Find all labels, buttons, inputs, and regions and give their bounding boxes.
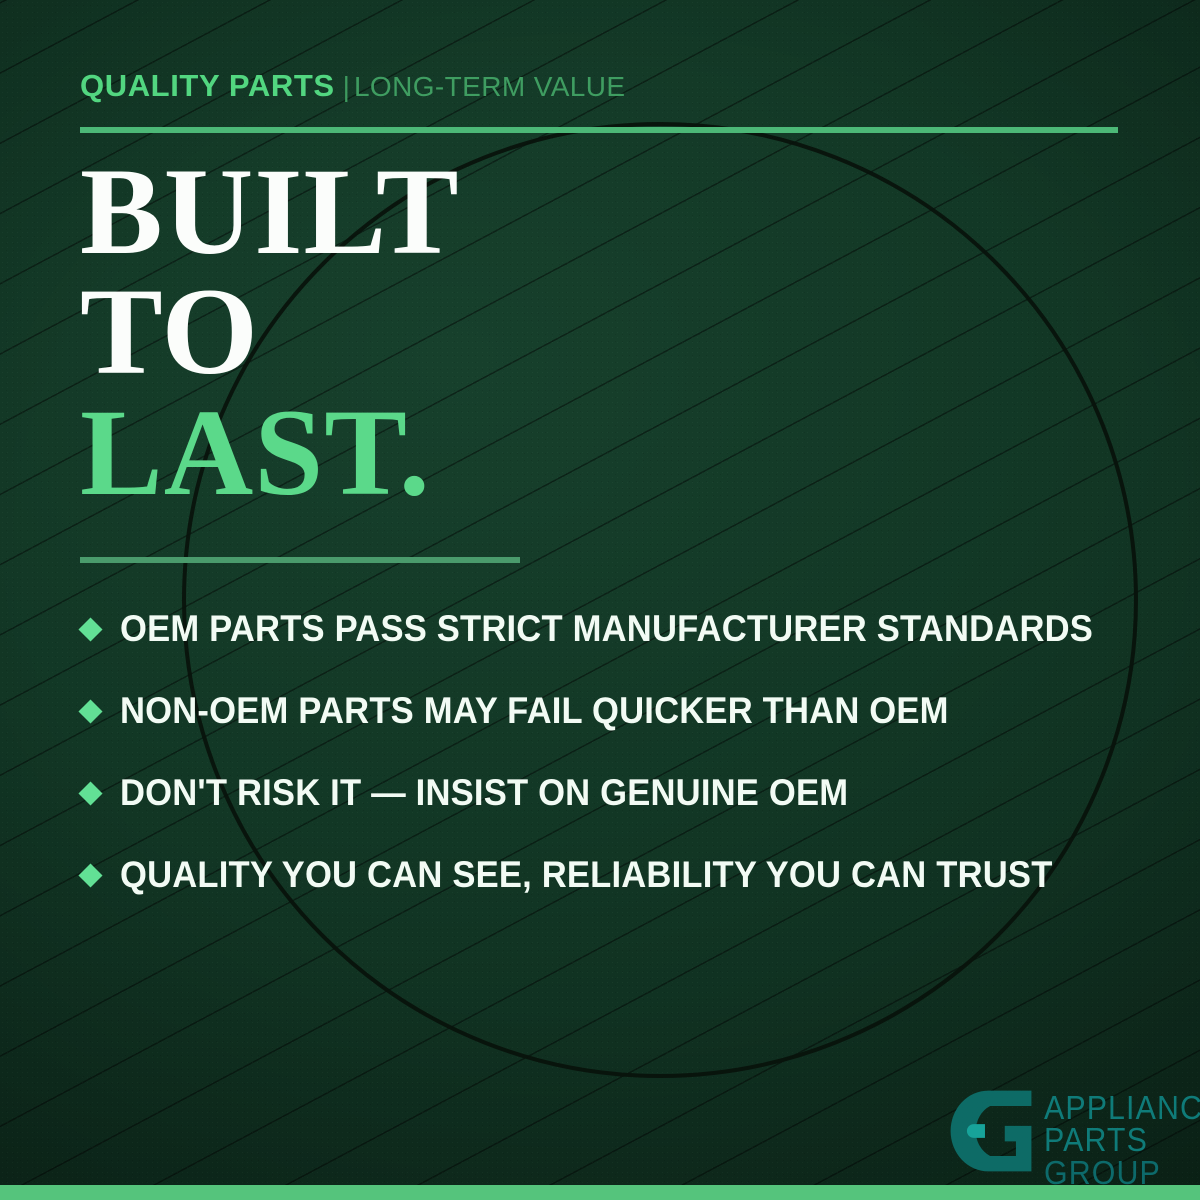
brand-logo-wordmark: APPLIANCE PARTS GROUP <box>1044 1088 1200 1189</box>
brand-logo: APPLIANCE PARTS GROUP <box>948 1088 1200 1189</box>
diamond-bullet-icon <box>78 617 102 641</box>
headline-line-1: BUILT <box>80 152 460 272</box>
top-divider-rule <box>80 127 1118 133</box>
list-item: DON'T RISK IT — INSIST ON GENUINE OEM <box>80 752 1150 834</box>
eyebrow-sub-label: LONG-TERM VALUE <box>354 71 626 102</box>
list-item-label: QUALITY YOU CAN SEE, RELIABILITY YOU CAN… <box>120 854 1053 896</box>
bottom-accent-bar <box>0 1185 1200 1200</box>
list-item-label: NON-OEM PARTS MAY FAIL QUICKER THAN OEM <box>120 690 949 732</box>
eyebrow: QUALITY PARTS|LONG-TERM VALUE <box>80 70 625 101</box>
list-item: NON-OEM PARTS MAY FAIL QUICKER THAN OEM <box>80 670 1150 752</box>
benefit-list: OEM PARTS PASS STRICT MANUFACTURER STAND… <box>80 588 1150 916</box>
headline: BUILT TO LAST. <box>80 152 460 513</box>
diamond-bullet-icon <box>78 781 102 805</box>
headline-line-3: LAST. <box>80 393 460 513</box>
eyebrow-main-label: QUALITY PARTS <box>80 68 335 103</box>
diamond-bullet-icon <box>78 863 102 887</box>
brand-logo-line-1: APPLIANCE <box>1044 1092 1200 1124</box>
g-monogram-icon <box>948 1088 1034 1174</box>
poster-canvas: QUALITY PARTS|LONG-TERM VALUE BUILT TO L… <box>0 0 1200 1200</box>
headline-divider-rule <box>80 557 520 563</box>
headline-line-2: TO <box>80 272 460 392</box>
brand-logo-line-2: PARTS <box>1044 1124 1200 1156</box>
list-item: QUALITY YOU CAN SEE, RELIABILITY YOU CAN… <box>80 834 1150 916</box>
list-item: OEM PARTS PASS STRICT MANUFACTURER STAND… <box>80 588 1150 670</box>
eyebrow-separator: | <box>343 71 350 102</box>
poster-content: QUALITY PARTS|LONG-TERM VALUE BUILT TO L… <box>0 0 1200 1200</box>
list-item-label: DON'T RISK IT — INSIST ON GENUINE OEM <box>120 772 848 814</box>
list-item-label: OEM PARTS PASS STRICT MANUFACTURER STAND… <box>120 608 1093 650</box>
diamond-bullet-icon <box>78 699 102 723</box>
